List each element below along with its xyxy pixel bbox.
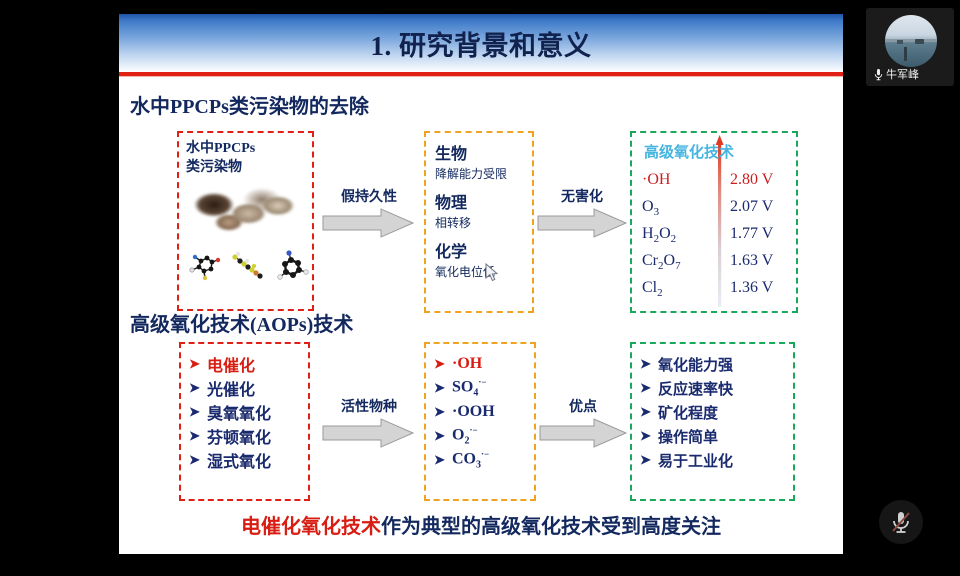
species-name: H2O2 xyxy=(642,225,676,245)
box-reactive-species: ➤ ·OH ➤ SO4·− ➤ ·OOH ➤ O2·− ➤ CO3·− xyxy=(424,342,536,501)
list-item: ➤ 反应速率快 xyxy=(640,376,733,400)
arrow-bullet-icon: ➤ xyxy=(434,380,452,396)
list-item: ➤ 光催化 xyxy=(189,376,271,400)
list-item-label: 光催化 xyxy=(207,376,255,400)
method-3-name: 化学 xyxy=(435,238,467,262)
block-arrow-right-icon xyxy=(319,416,419,450)
participant-name-badge: 牛军峰 xyxy=(874,66,919,82)
list-item-label: 操作简单 xyxy=(658,426,718,447)
molecule-structure-1-icon xyxy=(187,251,221,283)
avatar-post xyxy=(904,47,907,61)
potential-value: 2.80 V xyxy=(730,171,773,189)
list-item: ➤ CO3·− xyxy=(434,448,495,472)
screen: 1. 研究背景和意义 水中PPCPs类污染物的去除 高级氧化技术(AOPs)技术… xyxy=(0,0,960,576)
arrow-bullet-icon: ➤ xyxy=(640,404,658,420)
conclusion-highlight: 电催化氧化技术 xyxy=(241,516,381,538)
list-item: ➤ 湿式氧化 xyxy=(189,448,271,472)
arrow-bullet-icon: ➤ xyxy=(434,356,452,372)
box1-title-line2: 类污染物 xyxy=(186,158,312,177)
box3-title: 高级氧化技术 xyxy=(644,141,734,162)
list-item: ➤ O2·− xyxy=(434,424,495,448)
method-2-name: 物理 xyxy=(435,189,467,213)
arrow-bullet-icon: ➤ xyxy=(189,356,207,372)
list-item-label: 反应速率快 xyxy=(658,378,733,399)
list-item-label: 矿化程度 xyxy=(658,402,718,423)
arrow-bullet-icon: ➤ xyxy=(640,452,658,468)
arrow-bullet-icon: ➤ xyxy=(434,404,452,420)
arrow-bullet-icon: ➤ xyxy=(434,452,452,468)
table-row: ·OH 2.80 V xyxy=(642,171,792,198)
arrow-bullet-icon: ➤ xyxy=(189,404,207,420)
potential-value: 2.07 V xyxy=(730,198,773,216)
box-treatment-methods: 生物 降解能力受限 物理 相转移 化学 氧化电位低 xyxy=(424,131,534,313)
list-item-label: 电催化 xyxy=(207,352,255,376)
box1-title-line1: 水中PPCPs xyxy=(186,139,312,158)
species-name: ·OH xyxy=(642,171,670,189)
slide-title: 1. 研究背景和意义 xyxy=(119,14,843,72)
header-red-rule-soft xyxy=(119,76,843,77)
table-row: Cr2O7 1.63 V xyxy=(642,252,792,279)
list-item: ➤ ·OH xyxy=(434,352,495,376)
potential-value: 1.77 V xyxy=(730,225,773,243)
method-1-name: 生物 xyxy=(435,140,467,164)
box-aop-potentials: 高级氧化技术 ·OH 2.80 V O3 2.07 V H2O2 1.77 V … xyxy=(630,131,798,313)
aop-potential-table: ·OH 2.80 V O3 2.07 V H2O2 1.77 V Cr2O7 1… xyxy=(642,171,792,306)
list-item: ➤ ·OOH xyxy=(434,400,495,424)
list-item-label: 湿式氧化 xyxy=(207,448,271,472)
table-row: Cl2 1.36 V xyxy=(642,279,792,306)
participant-name: 牛军峰 xyxy=(886,66,919,82)
list-item-label: 芬顿氧化 xyxy=(207,424,271,448)
list-item-label: O2·− xyxy=(452,425,478,447)
list-item: ➤ 操作简单 xyxy=(640,424,733,448)
arrow2-label: 无害化 xyxy=(534,186,630,206)
arrow4-label: 优点 xyxy=(536,396,630,416)
arrow3-label: 活性物种 xyxy=(319,396,419,416)
list-item-label: 氧化能力强 xyxy=(658,354,733,375)
block-arrow-right-icon xyxy=(536,416,630,450)
box1-title: 水中PPCPs 类污染物 xyxy=(186,139,312,177)
list-item-label: ·OH xyxy=(452,355,482,373)
advantages-list: ➤ 氧化能力强 ➤ 反应速率快 ➤ 矿化程度 ➤ 操作简单 ➤ 易于工业化 xyxy=(640,352,733,472)
species-name: Cl2 xyxy=(642,279,663,299)
box-aop-technologies: ➤ 电催化 ➤ 光催化 ➤ 臭氧氧化 ➤ 芬顿氧化 ➤ 湿式氧化 xyxy=(179,342,310,501)
potential-value: 1.63 V xyxy=(730,252,773,270)
box-advantages: ➤ 氧化能力强 ➤ 反应速率快 ➤ 矿化程度 ➤ 操作简单 ➤ 易于工业化 xyxy=(630,342,795,501)
list-item: ➤ 氧化能力强 xyxy=(640,352,733,376)
arrow-bullet-icon: ➤ xyxy=(640,428,658,444)
list-item: ➤ SO4·− xyxy=(434,376,495,400)
participant-video-tile[interactable]: 牛军峰 xyxy=(866,8,954,86)
avatar-boat xyxy=(897,40,903,44)
mouse-cursor-icon xyxy=(485,263,499,283)
aop-tech-list: ➤ 电催化 ➤ 光催化 ➤ 臭氧氧化 ➤ 芬顿氧化 ➤ 湿式氧化 xyxy=(189,352,271,472)
list-item-label: 易于工业化 xyxy=(658,450,733,471)
microphone-muted-icon xyxy=(890,509,912,535)
species-list: ➤ ·OH ➤ SO4·− ➤ ·OOH ➤ O2·− ➤ CO3·− xyxy=(434,352,495,472)
microphone-icon xyxy=(874,68,883,81)
table-row: O3 2.07 V xyxy=(642,198,792,225)
mute-status-button[interactable] xyxy=(879,500,923,544)
arrow1-label: 假持久性 xyxy=(319,186,419,206)
arrow-bullet-icon: ➤ xyxy=(434,428,452,444)
slide-conclusion: 电催化氧化技术作为典型的高级氧化技术受到高度关注 xyxy=(119,510,843,539)
block-arrow-right-icon xyxy=(319,206,419,240)
box-ppcps-pollutants: 水中PPCPs 类污染物 xyxy=(177,131,314,311)
table-row: H2O2 1.77 V xyxy=(642,225,792,252)
molecule-structure-3-icon xyxy=(275,249,309,283)
conclusion-rest: 作为典型的高级氧化技术受到高度关注 xyxy=(381,516,721,538)
list-item: ➤ 电催化 xyxy=(189,352,271,376)
list-item: ➤ 矿化程度 xyxy=(640,400,733,424)
avatar-boat xyxy=(915,39,924,44)
presentation-slide[interactable]: 1. 研究背景和意义 水中PPCPs类污染物的去除 高级氧化技术(AOPs)技术… xyxy=(119,14,843,554)
potential-value: 1.36 V xyxy=(730,279,773,297)
list-item: ➤ 臭氧氧化 xyxy=(189,400,271,424)
method-2-note: 相转移 xyxy=(435,214,471,231)
arrow-bullet-icon: ➤ xyxy=(189,452,207,468)
section-heading-2: 高级氧化技术(AOPs)技术 xyxy=(130,308,353,337)
list-item: ➤ 易于工业化 xyxy=(640,448,733,472)
list-item-label: SO4·− xyxy=(452,377,486,399)
arrow-bullet-icon: ➤ xyxy=(189,380,207,396)
list-item-label: CO3·− xyxy=(452,449,489,471)
species-name: O3 xyxy=(642,198,659,218)
arrow-bullet-icon: ➤ xyxy=(189,428,207,444)
arrow-bullet-icon: ➤ xyxy=(640,356,658,372)
method-1-note: 降解能力受限 xyxy=(435,165,507,182)
blurred-pharmaceutical-photo xyxy=(189,185,303,237)
species-name: Cr2O7 xyxy=(642,252,681,272)
list-item-label: ·OOH xyxy=(452,403,495,421)
avatar-horizon xyxy=(885,39,937,42)
list-item: ➤ 芬顿氧化 xyxy=(189,424,271,448)
molecule-structure-2-icon xyxy=(229,251,267,283)
avatar xyxy=(885,15,937,67)
block-arrow-right-icon xyxy=(534,206,630,240)
section-heading-1: 水中PPCPs类污染物的去除 xyxy=(130,90,369,119)
list-item-label: 臭氧氧化 xyxy=(207,400,271,424)
arrow-bullet-icon: ➤ xyxy=(640,380,658,396)
